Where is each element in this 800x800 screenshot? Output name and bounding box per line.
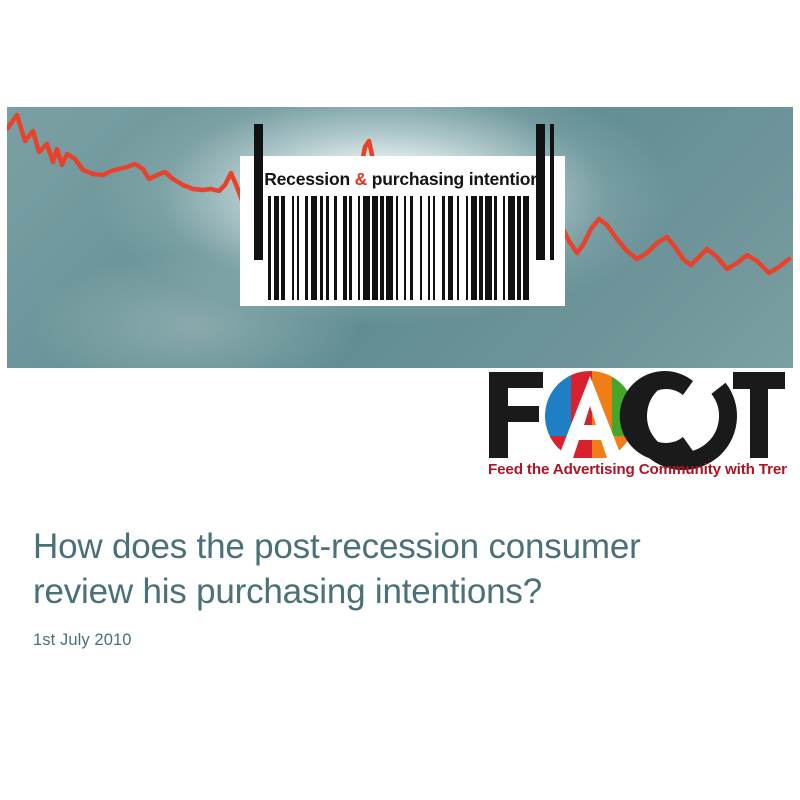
page-title-line-2: review his purchasing intentions? xyxy=(33,572,542,611)
barcode-bar xyxy=(281,196,284,300)
barcode-bar xyxy=(457,196,459,300)
barcode-bar xyxy=(380,196,383,300)
recession-banner: Recession & purchasing intention xyxy=(7,107,793,368)
barcode-bar xyxy=(305,196,308,300)
barcode-graphic: Recession & purchasing intention xyxy=(240,156,565,306)
barcode-bar xyxy=(523,196,529,300)
barcode-bar xyxy=(268,196,271,300)
logo-letter-f xyxy=(489,372,543,458)
trend-line-left xyxy=(7,115,254,207)
barcode-bar xyxy=(448,196,454,300)
barcode-guard-bar-left xyxy=(254,124,263,260)
barcode-bar xyxy=(297,196,299,300)
barcode-caption: Recession & purchasing intention xyxy=(240,164,565,194)
barcode-bar xyxy=(320,196,323,300)
barcode-bar xyxy=(517,196,520,300)
barcode-bar xyxy=(396,196,398,300)
barcode-bar xyxy=(363,196,370,300)
barcode-bar xyxy=(358,196,360,300)
page-title: How does the post-recession consumer rev… xyxy=(33,524,763,614)
barcode-bar xyxy=(343,196,346,300)
barcode-bar xyxy=(326,196,328,300)
barcode-bar xyxy=(508,196,515,300)
barcode-bar xyxy=(386,196,393,300)
barcode-bar xyxy=(503,196,505,300)
barcode-caption-before: Recession xyxy=(264,169,354,189)
fact-logo: Feed the Advertising Community with Tren… xyxy=(487,370,787,478)
barcode-bar xyxy=(466,196,468,300)
title-block: How does the post-recession consumer rev… xyxy=(33,524,763,650)
barcode-bar xyxy=(428,196,430,300)
barcode-caption-after: purchasing intention xyxy=(367,169,541,189)
barcode-bar xyxy=(485,196,492,300)
barcode-bar xyxy=(372,196,378,300)
barcode-bar xyxy=(494,196,497,300)
barcode-guard-bar-right-thin xyxy=(550,124,554,260)
barcode-bar xyxy=(274,196,280,300)
barcode-bar xyxy=(433,196,435,300)
barcode-bars xyxy=(240,196,565,300)
barcode-bar xyxy=(334,196,336,300)
logo-letter-t xyxy=(733,372,785,458)
barcode-bar xyxy=(311,196,318,300)
barcode-bar xyxy=(404,196,406,300)
barcode-bar xyxy=(410,196,413,300)
barcode-bar xyxy=(479,196,482,300)
barcode-bar xyxy=(442,196,445,300)
barcode-bar xyxy=(292,196,294,300)
barcode-bar xyxy=(471,196,477,300)
barcode-caption-ampersand: & xyxy=(355,169,367,189)
logo-tagline: Feed the Advertising Community with Tren… xyxy=(488,461,787,478)
page-title-line-1: How does the post-recession consumer xyxy=(33,527,641,566)
barcode-bar xyxy=(349,196,352,300)
barcode-guard-bar-right xyxy=(536,124,545,260)
page-date: 1st July 2010 xyxy=(33,631,763,650)
barcode-bar xyxy=(420,196,422,300)
